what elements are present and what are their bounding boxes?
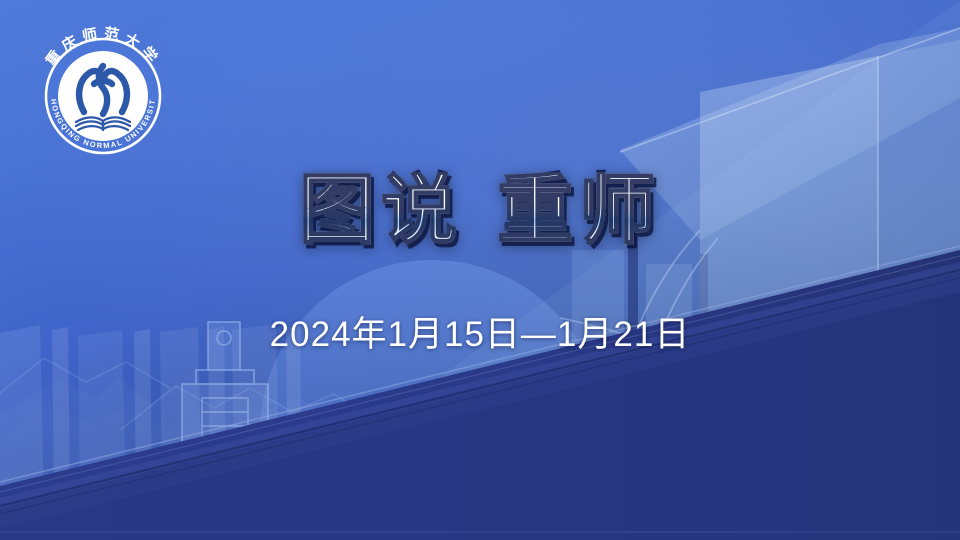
glass-panel-right [878, 40, 960, 520]
bottom-dark-band [0, 250, 960, 540]
serrated-silhouette [600, 465, 840, 540]
tower-bars [572, 232, 708, 512]
bottom-band-highlight [0, 262, 960, 528]
diagonal-accent-lines [0, 246, 960, 492]
light-streaks [690, 340, 960, 498]
slide-title: 图说重师 [0, 172, 960, 248]
panel-edge-diagonal [620, 28, 960, 152]
mountain-range-outline [0, 358, 960, 506]
tree-line-silhouette [366, 397, 497, 492]
large-circle-moon [260, 260, 604, 540]
title-sub: 重师 [497, 165, 661, 254]
light-sweep [215, 0, 960, 540]
arc-curves [556, 230, 826, 540]
glass-panel-main [700, 56, 878, 540]
title-main: 图说 [299, 165, 463, 254]
slide-canvas: 重庆师范大学 CHONGQING NORMAL UNIVERSITY 图说重 [0, 0, 960, 540]
slide-date-range: 2024年1月15日—1月21日 [0, 306, 960, 357]
university-logo: 重庆师范大学 CHONGQING NORMAL UNIVERSITY [28, 26, 178, 156]
